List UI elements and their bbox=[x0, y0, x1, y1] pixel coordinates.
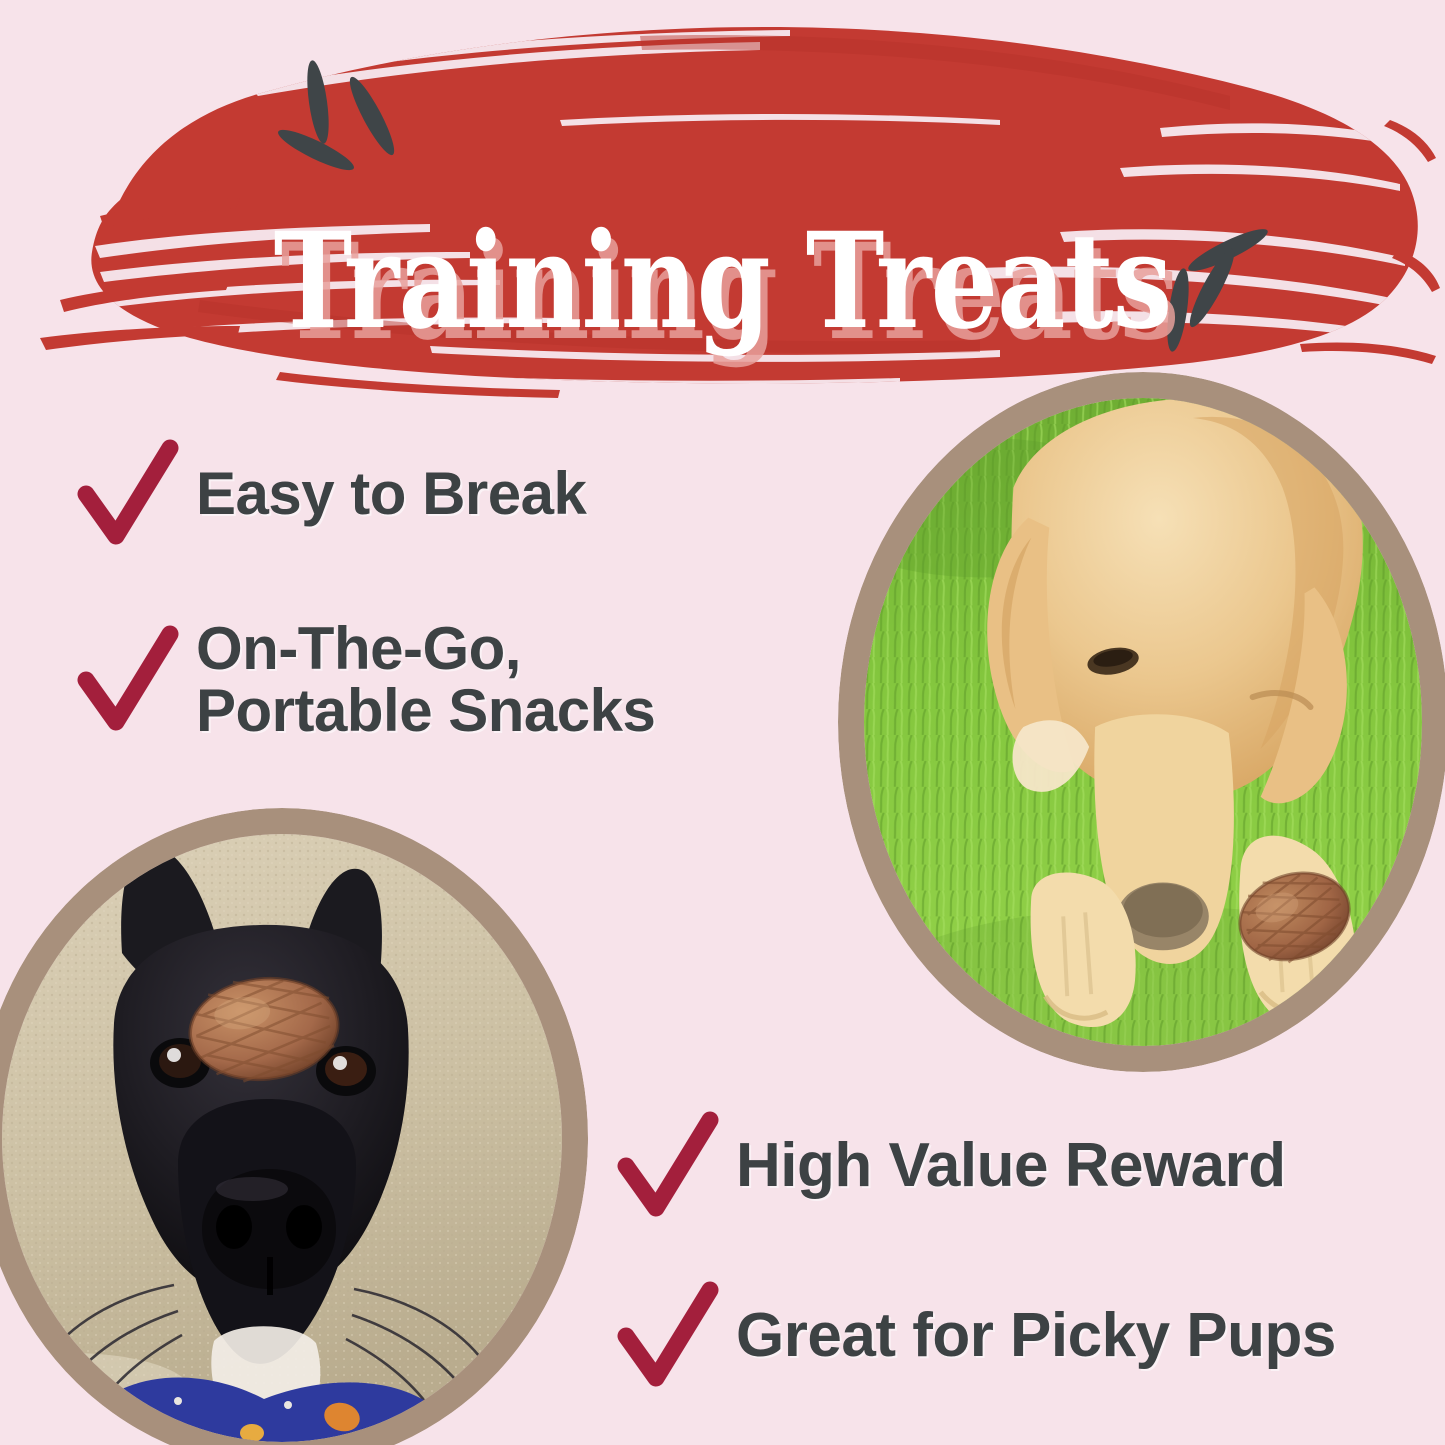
feature-label: On-The-Go, Portable Snacks bbox=[196, 618, 655, 742]
checkmark-icon bbox=[82, 628, 174, 732]
feature-item-easy-to-break: Easy to Break bbox=[82, 442, 586, 546]
feature-graphic-canvas: Training Treats Easy to Break On-The-Go,… bbox=[0, 0, 1445, 1445]
photo-image bbox=[2, 834, 562, 1442]
photo-black-dog-balancing-treat bbox=[0, 808, 588, 1445]
checkmark-icon bbox=[622, 1114, 714, 1218]
page-title: Training Treats bbox=[145, 216, 1301, 348]
photo-image bbox=[864, 398, 1422, 1046]
feature-item-high-value-reward: High Value Reward bbox=[622, 1114, 1286, 1218]
feature-label: High Value Reward bbox=[736, 1134, 1286, 1198]
feature-label: Great for Picky Pups bbox=[736, 1304, 1336, 1368]
checkmark-icon bbox=[622, 1284, 714, 1388]
feature-item-picky-pups: Great for Picky Pups bbox=[622, 1284, 1336, 1388]
feature-item-on-the-go: On-The-Go, Portable Snacks bbox=[82, 618, 655, 742]
photo-golden-retriever-with-treat bbox=[838, 372, 1445, 1072]
checkmark-icon bbox=[82, 442, 174, 546]
feature-label: Easy to Break bbox=[196, 463, 586, 525]
accent-slash-left bbox=[274, 59, 400, 176]
bandana-logo-badge bbox=[344, 1431, 396, 1442]
